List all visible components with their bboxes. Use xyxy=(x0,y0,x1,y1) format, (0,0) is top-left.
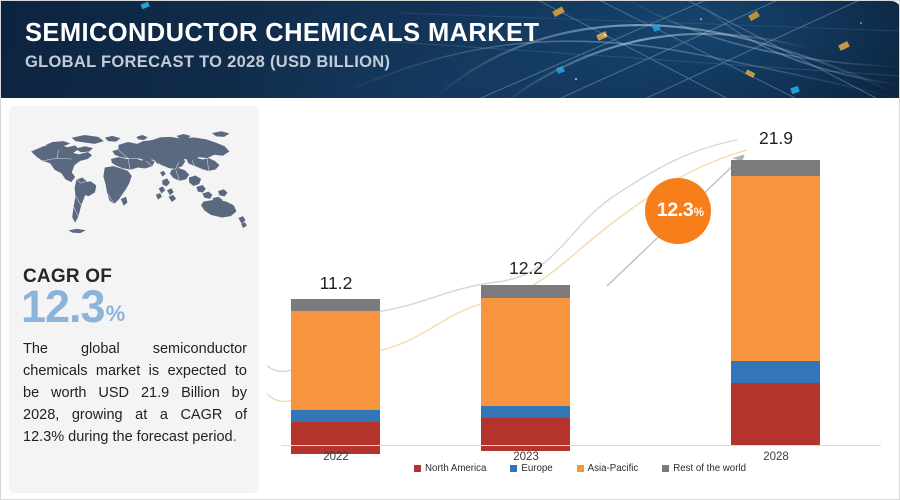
x-axis-label-2022: 2022 xyxy=(276,451,396,463)
legend-swatch-rest-of-the-world xyxy=(662,465,669,472)
summary-description: The global semiconductor chemicals marke… xyxy=(23,338,247,448)
legend-item-asia-pacific[interactable]: Asia-Pacific xyxy=(577,463,639,474)
legend-label-europe: Europe xyxy=(521,463,552,474)
cagr-number: 12.3 xyxy=(21,284,105,329)
bar-2022[interactable] xyxy=(291,299,380,454)
bar-2023[interactable] xyxy=(481,285,570,451)
legend-item-rest-of-the-world[interactable]: Rest of the world xyxy=(662,463,746,474)
chart-legend: North America Europe Asia-Pacific Rest o… xyxy=(267,463,893,474)
segment-asia-pacific xyxy=(731,176,820,361)
segment-europe xyxy=(481,406,570,418)
cagr-badge: 12.3 % xyxy=(645,178,711,244)
summary-description-text: The global semiconductor chemicals marke… xyxy=(23,341,247,445)
legend-label-rest-of-the-world: Rest of the world xyxy=(673,463,746,474)
segment-rest-of-the-world xyxy=(291,299,380,311)
cagr-badge-percent: % xyxy=(694,208,704,220)
segment-north-america xyxy=(481,418,570,451)
page-subtitle: GLOBAL FORECAST TO 2028 (USD BILLION) xyxy=(25,53,539,72)
x-axis-label-2028: 2028 xyxy=(716,451,836,463)
summary-description-period: . xyxy=(233,429,237,445)
header-banner: SEMICONDUCTOR CHEMICALS MARKET GLOBAL FO… xyxy=(1,1,900,98)
legend-swatch-north-america xyxy=(414,465,421,472)
segment-rest-of-the-world xyxy=(481,285,570,298)
bar-total-label: 12.2 xyxy=(466,258,586,279)
segment-north-america xyxy=(291,422,380,454)
cagr-percent-sign: % xyxy=(106,303,126,325)
bar-2028[interactable] xyxy=(731,160,820,445)
world-map-svg xyxy=(17,114,253,256)
legend-swatch-asia-pacific xyxy=(577,465,584,472)
legend-label-asia-pacific: Asia-Pacific xyxy=(588,463,639,474)
bar-total-label: 21.9 xyxy=(716,128,836,149)
stacked-bar-chart: 11.2 2022 12.2 2023 21.9 2028 xyxy=(267,106,893,493)
segment-europe xyxy=(291,410,380,422)
cagr-value-block: 12.3 % xyxy=(21,284,125,329)
segment-asia-pacific xyxy=(291,311,380,410)
infographic-root: SEMICONDUCTOR CHEMICALS MARKET GLOBAL FO… xyxy=(0,0,900,500)
x-axis-line xyxy=(281,445,881,446)
legend-item-north-america[interactable]: North America xyxy=(414,463,486,474)
legend-item-europe[interactable]: Europe xyxy=(510,463,552,474)
legend-swatch-europe xyxy=(510,465,517,472)
segment-asia-pacific xyxy=(481,298,570,406)
bar-total-label: 11.2 xyxy=(276,273,396,294)
segment-rest-of-the-world xyxy=(731,160,820,176)
page-title: SEMICONDUCTOR CHEMICALS MARKET xyxy=(25,19,539,48)
x-axis-label-2023: 2023 xyxy=(466,451,586,463)
segment-europe xyxy=(731,361,820,383)
legend-label-north-america: North America xyxy=(425,463,486,474)
cagr-badge-number: 12.3 xyxy=(657,201,693,221)
segment-north-america xyxy=(731,383,820,445)
cagr-badge-label: 12.3 % xyxy=(657,201,711,221)
summary-panel: CAGR OF 12.3 % The global semiconductor … xyxy=(9,106,259,493)
world-map-icon xyxy=(17,114,253,256)
